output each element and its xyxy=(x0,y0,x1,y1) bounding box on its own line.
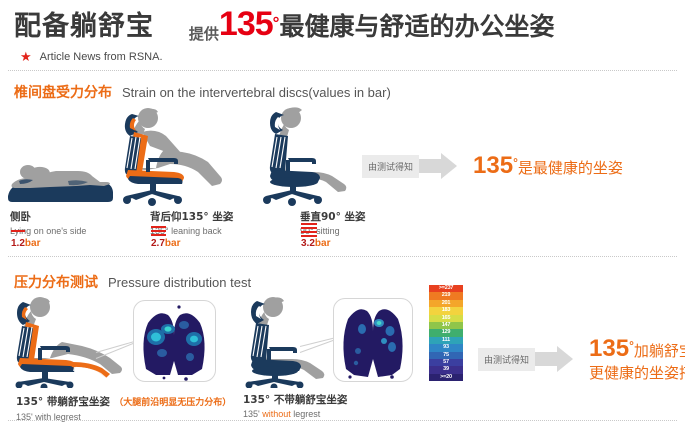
section1-title: 椎间盘受力分布 Strain on the intervertebral dis… xyxy=(14,82,391,102)
callout-text: 135°加躺舒宝是 更健康的坐姿搭配 xyxy=(589,335,685,383)
figure-lying-on-side xyxy=(6,148,116,204)
section1-title-en: Strain on the intervertebral discs(value… xyxy=(122,85,391,100)
divider-bottom xyxy=(8,420,677,421)
heatmap-canvas xyxy=(334,299,412,381)
bar-stack-lying xyxy=(11,230,35,234)
legend-row: 75 xyxy=(429,352,463,359)
section2-callout: 由测试得知 135°加躺舒宝是 更健康的坐姿搭配 xyxy=(478,335,685,383)
legend-row: 93 xyxy=(429,344,463,351)
section1-callout: 由测试得知 135°是最健康的坐姿 xyxy=(362,152,623,180)
legend-row: 129 xyxy=(429,329,463,336)
callout-text-cn: 是最健康的坐姿 xyxy=(518,159,623,177)
caption-cn: 背后仰135° 坐姿 xyxy=(150,209,233,224)
legend-row: 201 xyxy=(429,300,463,307)
bar-value-lying: 1.2bar xyxy=(11,238,40,249)
header-provide-label: 提供 xyxy=(189,25,219,43)
divider-middle xyxy=(8,256,677,257)
section1-title-cn: 椎间盘受力分布 xyxy=(14,82,112,102)
header-note: ★ Article News from RSNA. xyxy=(20,50,163,63)
caption-with-legrest: 135° 带躺舒宝坐姿 （大腿前沿明显无压力分布） 135' with legr… xyxy=(16,392,231,422)
callout-text-cn-2: 更健康的坐姿搭配 xyxy=(589,363,685,383)
legend-row: 111 xyxy=(429,337,463,344)
figure-chair-135-leaning-back xyxy=(112,106,230,206)
pressure-scale-legend: >=23721920118316514712911193755739>=20 xyxy=(429,285,463,381)
callout-label: 由测试得知 xyxy=(362,155,419,178)
figure-chair-with-legrest xyxy=(6,296,126,388)
legend-row: 165 xyxy=(429,315,463,322)
star-icon: ★ xyxy=(20,50,32,63)
header-angle-value: 135 xyxy=(219,5,273,43)
caption-cn: 侧卧 xyxy=(10,209,86,224)
caption-en: 135' without legrest xyxy=(243,409,347,419)
figure-chair-90-sitting xyxy=(258,106,358,206)
heatmap-with-legrest xyxy=(133,300,216,382)
caption-cn: 垂直90° 坐姿 xyxy=(300,209,366,224)
header-title-cn: 配备躺舒宝 xyxy=(14,11,154,42)
callout-label: 由测试得知 xyxy=(478,348,535,371)
legend-row: 183 xyxy=(429,307,463,314)
header-headline: 配备躺舒宝 提供135°最健康与舒适的办公坐姿 xyxy=(14,4,554,44)
bar-value-135: 2.7bar xyxy=(151,238,180,249)
callout-arrow-shaft xyxy=(419,159,441,173)
section2-title-cn: 压力分布测试 xyxy=(14,272,98,292)
heatmap-canvas xyxy=(134,301,215,381)
callout-angle: 135 xyxy=(589,335,629,362)
arrow-right-icon xyxy=(441,153,457,179)
section2-title-en: Pressure distribution test xyxy=(108,275,251,290)
caption-note-cn: （大腿前沿明显无压力分布） xyxy=(114,398,231,408)
legend-row: >=237 xyxy=(429,285,463,292)
caption-without-legrest: 135° 不带躺舒宝坐姿 135' without legrest xyxy=(243,392,347,419)
legend-row: >=20 xyxy=(429,374,463,381)
caption-cn: 135° 不带躺舒宝坐姿 xyxy=(243,392,347,407)
bar-value-90: 3.2bar xyxy=(301,238,330,249)
legend-row: 147 xyxy=(429,322,463,329)
section2-title: 压力分布测试 Pressure distribution test xyxy=(14,272,251,292)
callout-text-cn-1: 加躺舒宝是 xyxy=(634,342,685,360)
page-header: 配备躺舒宝 提供135°最健康与舒适的办公坐姿 ★ Article News f… xyxy=(0,0,685,72)
legend-row: 219 xyxy=(429,292,463,299)
divider-top xyxy=(8,70,677,71)
header-note-text: Article News from RSNA. xyxy=(40,51,163,63)
bar-stack-135 xyxy=(151,226,175,238)
caption-cn-line: 135° 带躺舒宝坐姿 （大腿前沿明显无压力分布） xyxy=(16,392,231,410)
legend-row: 39 xyxy=(429,366,463,373)
poster-root: 配备躺舒宝 提供135°最健康与舒适的办公坐姿 ★ Article News f… xyxy=(0,0,685,430)
bar-stack-90 xyxy=(301,223,325,239)
callout-arrow-shaft xyxy=(535,352,557,366)
legend-row: 57 xyxy=(429,359,463,366)
heatmap-without-legrest xyxy=(333,298,413,382)
arrow-right-icon xyxy=(557,346,573,372)
callout-angle: 135 xyxy=(473,152,513,179)
caption-cn: 135° 带躺舒宝坐姿 xyxy=(16,396,110,408)
callout-text: 135°是最健康的坐姿 xyxy=(473,152,623,180)
header-tail-cn: 最健康与舒适的办公坐姿 xyxy=(279,12,554,41)
